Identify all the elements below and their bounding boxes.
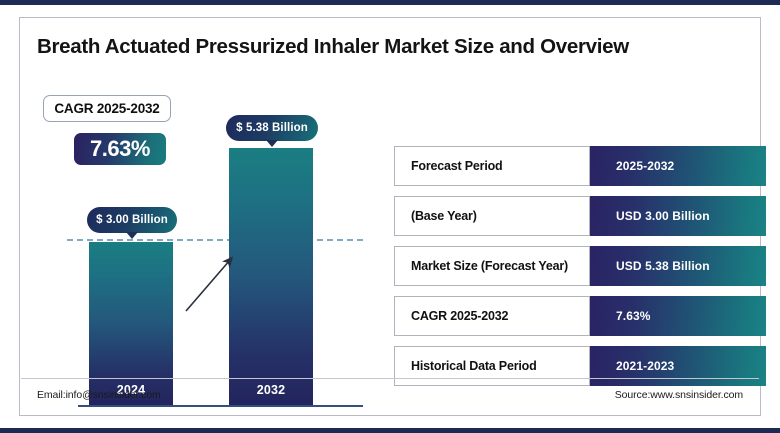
table-cell-value: 2021-2023 [590, 346, 766, 386]
table-value-text: USD 3.00 Billion [616, 209, 710, 223]
table-label-text: Market Size (Forecast Year) [411, 259, 568, 273]
table-cell-label: (Base Year) [394, 196, 590, 236]
bar-year-label-2032: 2032 [229, 383, 313, 397]
bar-value-label-2032: $ 5.38 Billion [226, 115, 318, 141]
table-value-text: USD 5.38 Billion [616, 259, 710, 273]
table-label-text: Historical Data Period [411, 359, 537, 373]
footer-divider [21, 378, 759, 379]
table-cell-value: USD 5.38 Billion [590, 246, 766, 286]
bar-value-label-2024: $ 3.00 Billion [87, 207, 177, 233]
table-label-text: CAGR 2025-2032 [411, 309, 508, 323]
table-value-text: 2025-2032 [616, 159, 674, 173]
table-cell-value: 7.63% [590, 296, 766, 336]
growth-arrow-icon [183, 253, 239, 315]
table-cell-label: Forecast Period [394, 146, 590, 186]
market-summary-table: Forecast Period 2025-2032 (Base Year) US… [394, 146, 766, 396]
bar-chart: $ 5.38 Billion $ 3.00 Billion 2024 2032 [43, 78, 363, 408]
table-row: CAGR 2025-2032 7.63% [394, 296, 766, 336]
content-panel: Breath Actuated Pressurized Inhaler Mark… [19, 17, 761, 416]
table-row: Forecast Period 2025-2032 [394, 146, 766, 186]
table-label-text: Forecast Period [411, 159, 502, 173]
reference-dashed-line [67, 239, 363, 241]
footer-source: Source:www.snsinsider.com [615, 389, 743, 401]
bar-2024: 2024 [89, 242, 173, 405]
table-cell-value: USD 3.00 Billion [590, 196, 766, 236]
bar-value-text-2032: $ 5.38 Billion [236, 122, 308, 134]
bar-2032: 2032 [229, 148, 313, 405]
table-cell-label: Historical Data Period [394, 346, 590, 386]
table-value-text: 2021-2023 [616, 359, 674, 373]
table-value-text: 7.63% [616, 309, 651, 323]
table-row: Historical Data Period 2021-2023 [394, 346, 766, 386]
top-accent-bar [0, 0, 780, 5]
table-cell-label: Market Size (Forecast Year) [394, 246, 590, 286]
table-label-text: (Base Year) [411, 209, 477, 223]
chart-baseline-axis [78, 405, 363, 407]
page-title: Breath Actuated Pressurized Inhaler Mark… [37, 35, 737, 59]
table-cell-value: 2025-2032 [590, 146, 766, 186]
table-row: Market Size (Forecast Year) USD 5.38 Bil… [394, 246, 766, 286]
infographic-root: Breath Actuated Pressurized Inhaler Mark… [0, 0, 780, 433]
bottom-accent-bar [0, 428, 780, 433]
footer-email: Email:info@snsinsider.com [37, 389, 161, 401]
table-cell-label: CAGR 2025-2032 [394, 296, 590, 336]
table-row: (Base Year) USD 3.00 Billion [394, 196, 766, 236]
bar-value-text-2024: $ 3.00 Billion [96, 214, 168, 226]
